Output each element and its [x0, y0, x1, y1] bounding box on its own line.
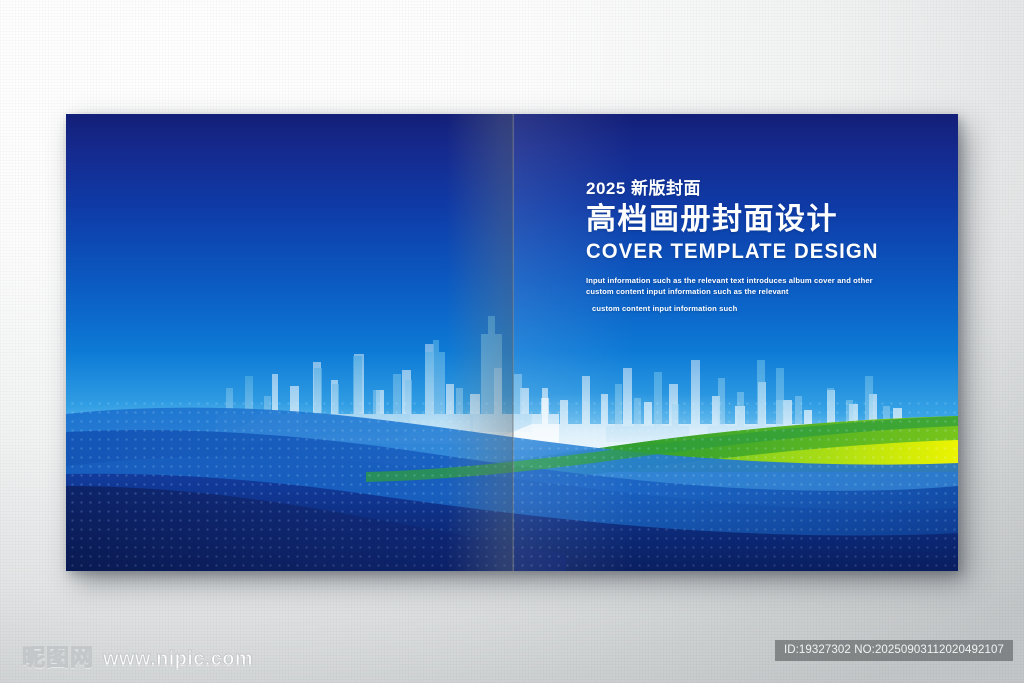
body-line-2: custom content input information such as… [586, 286, 916, 297]
cover-title-en: COVER TEMPLATE DESIGN [586, 239, 906, 264]
cover-body-copy: Input information such as the relevant t… [586, 275, 916, 314]
cover-eyebrow: 2025 新版封面 [586, 180, 916, 199]
cover-title-cn: 高档画册封面设计 [586, 202, 916, 237]
open-book-spread: 2025 新版封面 高档画册封面设计 COVER TEMPLATE DESIGN… [66, 114, 958, 571]
screenshot-canvas: 2025 新版封面 高档画册封面设计 COVER TEMPLATE DESIGN… [0, 0, 1024, 683]
nipic-logo-cn: 昵图网 [22, 638, 94, 672]
nipic-logo[interactable]: 昵图网 www.nipic.com [22, 638, 253, 672]
watermark-footer: 昵图网 www.nipic.com ID:19327302 NO:2025090… [0, 630, 1024, 683]
cover-artwork: 2025 新版封面 高档画册封面设计 COVER TEMPLATE DESIGN… [66, 114, 958, 571]
body-line-1: Input information such as the relevant t… [586, 275, 916, 286]
cover-text-block: 2025 新版封面 高档画册封面设计 COVER TEMPLATE DESIGN… [586, 180, 916, 314]
asset-id-badge: ID:19327302 NO:20250903112020492107 [775, 640, 1013, 661]
body-line-3: custom content input information such [586, 303, 916, 314]
nipic-logo-url: www.nipic.com [103, 648, 253, 671]
